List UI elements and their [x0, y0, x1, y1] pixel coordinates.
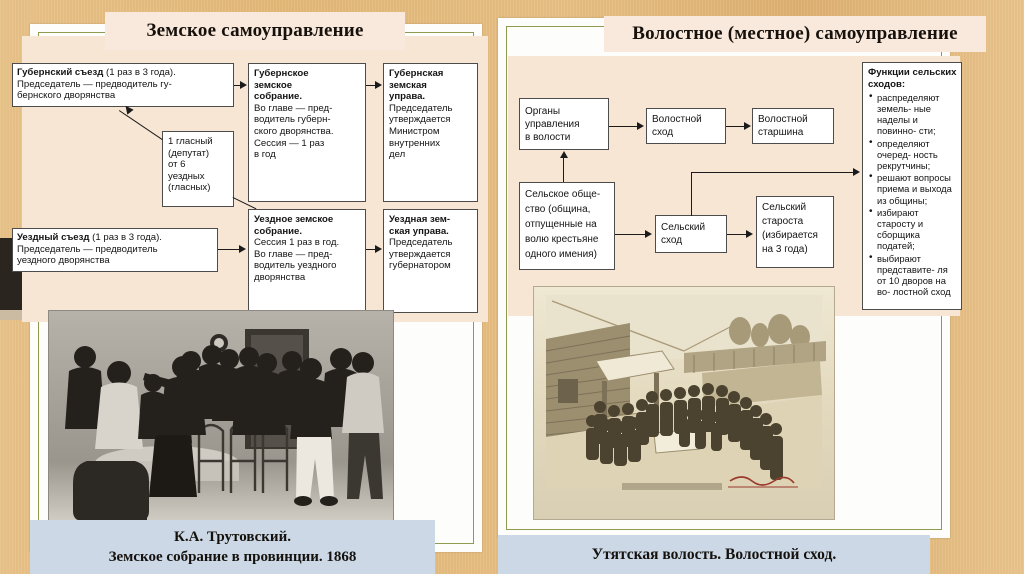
photo-zemskoe-sobranie [48, 310, 394, 527]
box-gubernskoe-zemskoe-sobranie: Губернское земское собрание. Во главе — … [248, 63, 366, 202]
arrowhead-gs-to-gzs [240, 81, 247, 89]
glasny-line2: (депутат) [168, 148, 209, 159]
connector-sshod-up [691, 172, 692, 216]
selsky-shod-line2: сход [661, 234, 721, 247]
box-uezdny-syezd-line2: уездного дворянства [17, 255, 110, 266]
caption-volostnoy-shod: Утятская волость. Волостной сход. [498, 535, 930, 574]
photo-volostnoy-shod-illustration [534, 287, 834, 519]
so-line4: волю крестьяне [525, 234, 598, 245]
arrowhead-us-to-uzs [239, 245, 246, 253]
box-uezdnoe-zemskoe-sobranie: Уездное земское собрание. Сессия 1 раз в… [248, 209, 366, 313]
glasny-line1: 1 гласный [168, 136, 213, 147]
box-uezdnaya-zemskaya-uprava: Уездная зем- ская управа. Председатель у… [383, 209, 478, 313]
gzu-line1: Председатель [389, 103, 453, 114]
box-uezdny-syezd-line1: Председатель — предводитель [17, 244, 158, 255]
box-organy-upravleniya-v-volosti: Органы управления в волости [519, 98, 609, 150]
so-line1: Сельское обще- [525, 189, 600, 200]
box-glasny-deputat: 1 гласный (депутат) от 6 уездных (гласны… [162, 131, 234, 207]
gzs-title-l2: земское [254, 80, 292, 91]
caption-left-line1: К.А. Трутовский. [174, 527, 291, 547]
ss-line1: Сельский [762, 202, 806, 213]
photo-volostnoy-shod [533, 286, 835, 520]
arrowhead-uzs-to-uzu [375, 245, 382, 253]
box-volostnoy-shod: Волостной сход [646, 108, 726, 144]
connector-us-to-uzs [218, 249, 240, 250]
box-gubernsky-syezd-line2: бернского дворянства [17, 90, 115, 101]
gzs-title-l1: Губернское [254, 68, 309, 79]
connector-vshod-to-starshina [726, 126, 744, 127]
gzs-line2: водитель губерн- [254, 114, 331, 125]
box-funktsii-selskikh-skhodov: Функции сельских сходов: распределяют зе… [862, 62, 962, 310]
volostnoy-starshina-line1: Волостной [758, 113, 828, 126]
funktsii-list: распределяют земель- ные наделы и повинн… [868, 92, 957, 298]
photo-zemskoe-sobranie-illustration [49, 311, 393, 526]
uzu-line2: утверждается [389, 249, 451, 260]
arrowhead-gzs-to-gzu [375, 81, 382, 89]
arrowhead-sshod-to-funktsii [853, 168, 860, 176]
arrowhead-so-to-sshod [645, 230, 652, 238]
organy-line3: в волости [525, 131, 603, 144]
uzu-line3: губернатором [389, 260, 451, 271]
gzs-line4: Сессия — 1 раз [254, 138, 324, 149]
gzu-line5: дел [389, 149, 405, 160]
gzu-title-l2: земская [389, 80, 427, 91]
banner-volostnoe-samoupravlenie: Волостное (местное) самоуправление [604, 16, 986, 52]
arrowhead-vshod-to-starshina [744, 122, 751, 130]
gzu-line4: внутренних [389, 138, 440, 149]
gzs-line1: Во главе — пред- [254, 103, 332, 114]
uzu-line1: Председатель [389, 237, 453, 248]
ss-line3: (избирается [762, 230, 818, 241]
gzu-title-l1: Губернская [389, 68, 443, 79]
so-line3: отпущенные на [525, 219, 597, 230]
connector-sshod-to-starosta [727, 234, 746, 235]
caption-zemskoe-sobranie: К.А. Трутовский. Земское собрание в пров… [30, 520, 435, 574]
arrowhead-so-to-organy [560, 151, 568, 158]
box-selskoe-obshchestvo: Сельское обще- ство (община, отпущенные … [519, 182, 615, 270]
uzu-title-l2: ская управа. [389, 226, 449, 237]
gzs-title-l3: собрание. [254, 91, 302, 102]
volostnoy-shod-line2: сход [652, 126, 720, 139]
selsky-shod-line1: Сельский [661, 221, 721, 234]
box-uezdny-syezd-title: Уездный съезд [17, 232, 90, 243]
glasny-line4: уездных [168, 171, 205, 182]
uzs-line4: дворянства [254, 272, 305, 283]
connector-so-to-sshod [615, 234, 646, 235]
funktsii-title-l2: сходов: [868, 79, 957, 90]
gzs-line3: ского дворянства. [254, 126, 334, 137]
gzu-title-l3: управа. [389, 91, 425, 102]
glasny-line3: от 6 [168, 159, 186, 170]
so-line2: ство (община, [525, 204, 590, 215]
connector-organy-to-vshod [609, 126, 638, 127]
box-gubernsky-syezd-title: Губернский съезд [17, 67, 103, 78]
gzu-line3: Министром [389, 126, 439, 137]
uzs-line1: Сессия 1 раз в год. [254, 237, 339, 248]
box-volostnoy-starshina: Волостной старшина [752, 108, 834, 144]
uzs-title-l1: Уездное земское [254, 214, 333, 225]
volostnoy-shod-line1: Волостной [652, 113, 720, 126]
funktsii-item-4: избирают старосту и сборщика податей; [877, 207, 957, 252]
box-uezdny-syezd: Уездный съезд (1 раз в 3 года). Председа… [12, 228, 218, 272]
gzu-line2: утверждается [389, 114, 451, 125]
funktsii-title-l1: Функции сельских [868, 67, 957, 78]
box-selsky-shod: Сельский сход [655, 215, 727, 253]
ss-line4: на 3 года) [762, 244, 808, 255]
uzs-line2: Во главе — пред- [254, 249, 332, 260]
connector-so-to-organy [563, 158, 564, 182]
connector-sshod-to-funktsii [691, 172, 855, 173]
uzs-title-l2: собрание. [254, 226, 302, 237]
arrowhead-sshod-to-starosta [746, 230, 753, 238]
organy-line2: управления [525, 118, 603, 131]
box-selsky-starosta: Сельский староста (избирается на 3 года) [756, 196, 834, 268]
box-gubernsky-syezd-line1: Председатель — предводитель гу- [17, 79, 172, 90]
box-gubernsky-syezd: Губернский съезд (1 раз в 3 года). Предс… [12, 63, 234, 107]
ss-line2: староста [762, 216, 803, 227]
funktsii-item-2: определяют очеред- ность рекрутчины; [877, 138, 957, 172]
so-line5: одного имения) [525, 249, 597, 260]
slide-background: Земское самоуправление Губернский съезд … [0, 0, 1024, 574]
funktsii-item-3: решают вопросы приема и выхода из общины… [877, 172, 957, 206]
glasny-line5: (гласных) [168, 182, 210, 193]
funktsii-item-1: распределяют земель- ные наделы и повинн… [877, 92, 957, 137]
banner-zemskoe-samoupravlenie: Земское самоуправление [105, 12, 405, 50]
funktsii-item-5: выбирают представите- ля от 10 дворов на… [877, 253, 957, 298]
uzs-line3: водитель уездного [254, 260, 337, 271]
box-uezdny-syezd-title-suffix: (1 раз в 3 года). [90, 232, 162, 243]
volostnoy-starshina-line2: старшина [758, 126, 828, 139]
uzu-title-l1: Уездная зем- [389, 214, 450, 225]
box-gubernsky-syezd-title-suffix: (1 раз в 3 года). [103, 67, 175, 78]
box-gubernskaya-zemskaya-uprava: Губернская земская управа. Председатель … [383, 63, 478, 202]
organy-line1: Органы [525, 105, 603, 118]
gzs-line5: в год [254, 149, 276, 160]
caption-left-line2: Земское собрание в провинции. 1868 [109, 547, 357, 567]
caption-right-line1: Утятская волость. Волостной сход. [592, 545, 836, 565]
arrowhead-organy-to-vshod [637, 122, 644, 130]
